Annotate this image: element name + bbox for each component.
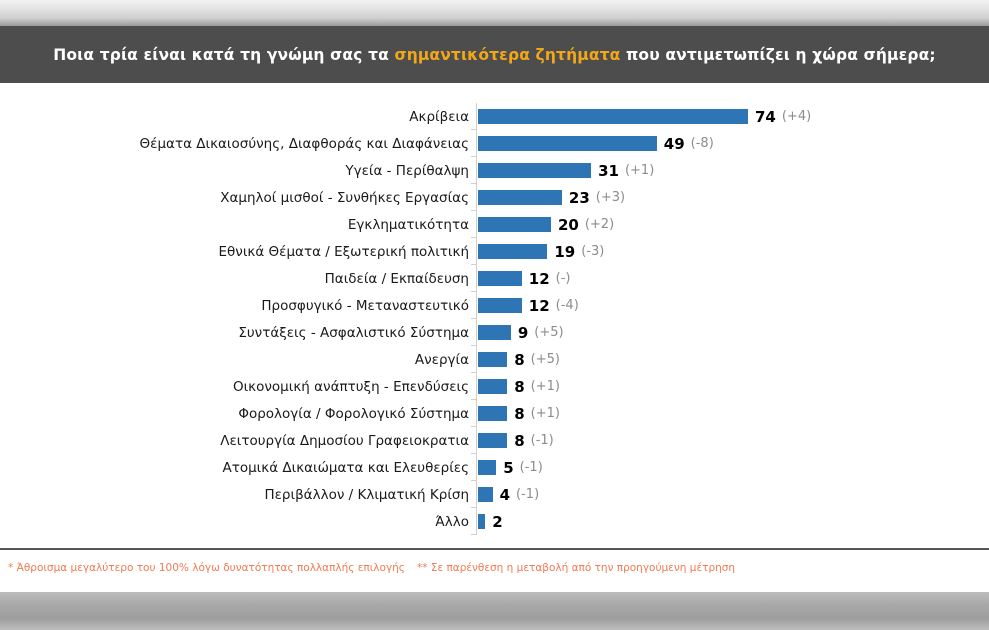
bar-delta-label: (-1) [520, 460, 543, 475]
bar [478, 487, 493, 502]
bar-value-label: 23 [569, 189, 590, 207]
bar-delta-label: (-1) [516, 487, 539, 502]
bar-delta-label: (+3) [596, 190, 625, 205]
bar [478, 325, 511, 340]
bar [478, 163, 591, 178]
bar [478, 379, 507, 394]
bar-wrapper: 49(-8) [478, 130, 714, 157]
bar-wrapper: 9(+5) [478, 319, 564, 346]
bar-value-label: 4 [500, 486, 510, 504]
chart-row: Παιδεία / Εκπαίδευση12(-) [0, 265, 989, 292]
category-label: Ατομικά Δικαιώματα και Ελευθερίες [49, 460, 469, 476]
bar [478, 514, 485, 529]
bar-wrapper: 4(-1) [478, 481, 539, 508]
bar-wrapper: 8(+5) [478, 346, 560, 373]
bar-delta-label: (-) [556, 271, 571, 286]
bar [478, 406, 507, 421]
chart-row: Χαμηλοί μισθοί - Συνθήκες Εργασίας23(+3) [0, 184, 989, 211]
category-label: Οικονομική ανάπτυξη - Επενδύσεις [49, 379, 469, 395]
bar-delta-label: (-1) [531, 433, 554, 448]
chart-row: Ατομικά Δικαιώματα και Ελευθερίες5(-1) [0, 454, 989, 481]
top-gradient-strip [0, 0, 989, 26]
bar-value-label: 8 [514, 432, 524, 450]
bar-value-label: 9 [518, 324, 528, 342]
bar-chart-plot: Ακρίβεια74(+4)Θέματα Δικαιοσύνης, Διαφθο… [0, 103, 989, 535]
bar [478, 460, 496, 475]
bar-value-label: 8 [514, 405, 524, 423]
chart-row: Εγκληματικότητα20(+2) [0, 211, 989, 238]
bottom-gradient-strip [0, 592, 989, 630]
bar-wrapper: 8(-1) [478, 427, 554, 454]
bar-delta-label: (+1) [625, 163, 654, 178]
category-label: Φορολογία / Φορολογικό Σύστημα [49, 406, 469, 422]
bar-wrapper: 8(+1) [478, 373, 560, 400]
poll-chart-page: Ποια τρία είναι κατά τη γνώμη σας τα σημ… [0, 0, 989, 630]
title-bar: Ποια τρία είναι κατά τη γνώμη σας τα σημ… [0, 26, 989, 83]
chart-row: Εθνικά Θέματα / Εξωτερική πολιτική19(-3) [0, 238, 989, 265]
chart-row: Υγεία - Περίθαλψη31(+1) [0, 157, 989, 184]
bar-value-label: 12 [529, 297, 550, 315]
bar-value-label: 12 [529, 270, 550, 288]
bar-wrapper: 8(+1) [478, 400, 560, 427]
bar-delta-label: (+2) [585, 217, 614, 232]
bar-value-label: 31 [598, 162, 619, 180]
bar-delta-label: (+5) [531, 352, 560, 367]
category-label: Εγκληματικότητα [49, 217, 469, 233]
bar-delta-label: (+4) [782, 109, 811, 124]
chart-area: Ακρίβεια74(+4)Θέματα Δικαιοσύνης, Διαφθο… [0, 83, 989, 548]
chart-row: Οικονομική ανάπτυξη - Επενδύσεις8(+1) [0, 373, 989, 400]
chart-row: Ανεργία8(+5) [0, 346, 989, 373]
bar [478, 298, 522, 313]
bar-delta-label: (+5) [534, 325, 563, 340]
bar-value-label: 49 [664, 135, 685, 153]
bar-value-label: 20 [558, 216, 579, 234]
title-text-part-1: Ποια τρία είναι κατά τη γνώμη σας τα [53, 46, 394, 64]
chart-row: Προσφυγικό - Μεταναστευτικό12(-4) [0, 292, 989, 319]
category-label: Θέματα Δικαιοσύνης, Διαφθοράς και Διαφάν… [49, 136, 469, 152]
bar-value-label: 5 [503, 459, 513, 477]
bar [478, 217, 551, 232]
title-text-part-2: που αντιμετωπίζει η χώρα σήμερα; [620, 46, 935, 64]
category-label: Συντάξεις - Ασφαλιστικό Σύστημα [49, 325, 469, 341]
chart-row: Φορολογία / Φορολογικό Σύστημα8(+1) [0, 400, 989, 427]
chart-row: Άλλο2 [0, 508, 989, 535]
category-label: Ακρίβεια [49, 109, 469, 125]
category-label: Εθνικά Θέματα / Εξωτερική πολιτική [49, 244, 469, 260]
bar [478, 352, 507, 367]
chart-row: Ακρίβεια74(+4) [0, 103, 989, 130]
category-label: Άλλο [49, 514, 469, 530]
bar-wrapper: 2 [478, 508, 503, 535]
bar [478, 244, 547, 259]
category-label: Προσφυγικό - Μεταναστευτικό [49, 298, 469, 314]
bar [478, 109, 748, 124]
bar-wrapper: 12(-) [478, 265, 571, 292]
chart-row: Λειτουργία Δημοσίου Γραφειοκρατια8(-1) [0, 427, 989, 454]
footnote-2: ** Σε παρένθεση η μεταβολή από την προηγ… [417, 562, 735, 574]
chart-row: Περιβάλλον / Κλιματική Κρίση4(-1) [0, 481, 989, 508]
bar-value-label: 8 [514, 351, 524, 369]
bar-wrapper: 74(+4) [478, 103, 811, 130]
bar [478, 190, 562, 205]
footnote-1: * Άθροισμα μεγαλύτερο του 100% λόγω δυνα… [8, 562, 405, 574]
category-label: Υγεία - Περίθαλψη [49, 163, 469, 179]
bar-wrapper: 23(+3) [478, 184, 625, 211]
bar-delta-label: (-3) [581, 244, 604, 259]
bar-wrapper: 31(+1) [478, 157, 654, 184]
category-label: Παιδεία / Εκπαίδευση [49, 271, 469, 287]
title-text-highlight: σημαντικότερα ζητήματα [394, 46, 620, 64]
footer: * Άθροισμα μεγαλύτερο του 100% λόγω δυνα… [0, 550, 989, 592]
bar [478, 271, 522, 286]
page-title: Ποια τρία είναι κατά τη γνώμη σας τα σημ… [53, 46, 936, 64]
bar-wrapper: 5(-1) [478, 454, 543, 481]
bar [478, 433, 507, 448]
axis-tick [471, 534, 476, 535]
bar-delta-label: (-8) [691, 136, 714, 151]
chart-row: Συντάξεις - Ασφαλιστικό Σύστημα9(+5) [0, 319, 989, 346]
footnote-group: * Άθροισμα μεγαλύτερο του 100% λόγω δυνα… [8, 562, 735, 574]
bar-wrapper: 20(+2) [478, 211, 614, 238]
bar-value-label: 2 [492, 513, 502, 531]
bar-delta-label: (+1) [531, 379, 560, 394]
bar-wrapper: 12(-4) [478, 292, 579, 319]
bar-value-label: 19 [554, 243, 575, 261]
category-label: Χαμηλοί μισθοί - Συνθήκες Εργασίας [49, 190, 469, 206]
bar-wrapper: 19(-3) [478, 238, 604, 265]
bar [478, 136, 657, 151]
bar-value-label: 8 [514, 378, 524, 396]
chart-row: Θέματα Δικαιοσύνης, Διαφθοράς και Διαφάν… [0, 130, 989, 157]
bar-value-label: 74 [755, 108, 776, 126]
bar-delta-label: (+1) [531, 406, 560, 421]
category-label: Περιβάλλον / Κλιματική Κρίση [49, 487, 469, 503]
category-label: Ανεργία [49, 352, 469, 368]
category-label: Λειτουργία Δημοσίου Γραφειοκρατια [49, 433, 469, 449]
bar-delta-label: (-4) [556, 298, 579, 313]
